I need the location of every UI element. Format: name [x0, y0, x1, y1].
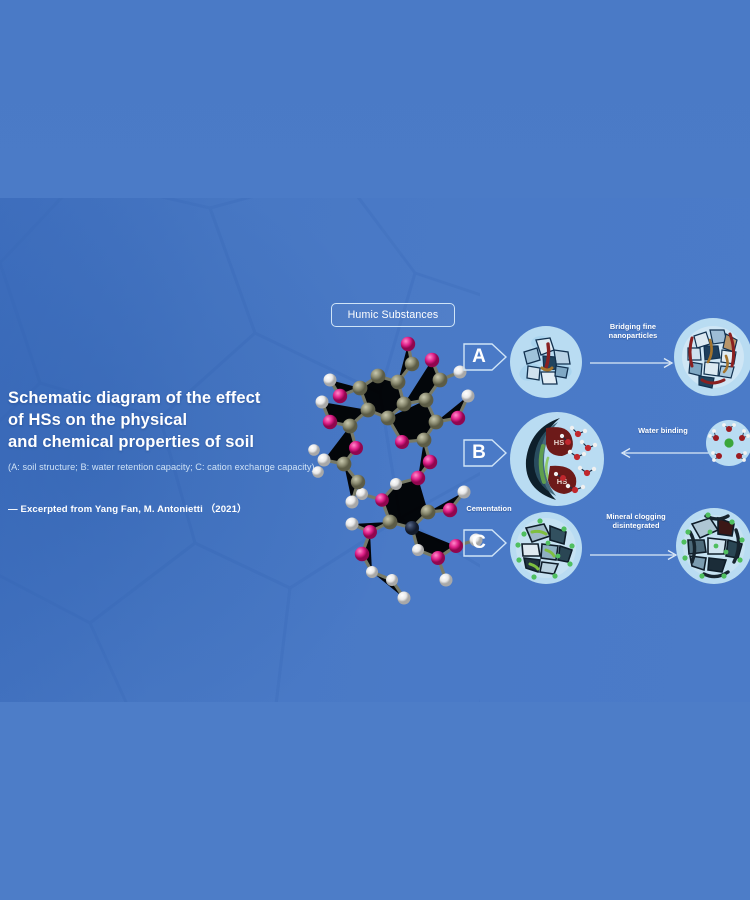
panel-a-process-caption: Bridging fine nanoparticles	[592, 322, 674, 341]
panel-b-right-bubble	[706, 420, 750, 466]
figure-credit: — Excerpted from Yang Fan, M. Antonietti…	[8, 501, 338, 515]
panel-a-label: A	[465, 336, 493, 378]
soil-aggregate-bridged-icon	[674, 318, 750, 396]
panel-a: A	[462, 318, 750, 408]
hydrated-cation-cluster-icon	[706, 420, 750, 466]
soil-aggregate-loose-icon	[510, 326, 582, 398]
panel-c-label: C	[465, 522, 493, 564]
panel-a-left-bubble	[510, 326, 582, 398]
cemented-mineral-aggregate-icon	[510, 512, 582, 584]
figure-canvas: Schematic diagram of the effect of HSs o…	[0, 0, 750, 900]
panel-a-arrow-right-icon	[590, 356, 678, 370]
panel-a-right-bubble	[674, 318, 750, 396]
panel-b-label: B	[465, 432, 493, 474]
figure-text-block: Schematic diagram of the effect of HSs o…	[8, 388, 338, 515]
panel-b-marker: B	[462, 432, 508, 474]
humic-substance-water-binding-icon: HS HS	[510, 412, 604, 506]
panel-c-process-caption: Mineral clogging disintegrated	[590, 512, 682, 531]
disintegrated-mineral-aggregate-icon	[676, 508, 750, 584]
figure-subtitle: (A: soil structure; B: water retention c…	[8, 462, 338, 472]
panel-b-arrow-left-icon	[616, 446, 712, 460]
panel-b-process-caption: Water binding	[630, 426, 696, 435]
panel-c-marker: C	[462, 522, 508, 564]
panel-c: Cementation C	[462, 506, 750, 606]
title-line-1: Schematic diagram of the effect	[8, 388, 338, 410]
panel-c-arrow-right-icon	[590, 548, 682, 562]
title-line-2: of HSs on the physical	[8, 410, 338, 432]
bottom-background-band	[0, 700, 750, 900]
panel-b: B HS HS	[462, 408, 750, 510]
top-background-band	[0, 0, 750, 200]
panel-c-left-bubble	[510, 512, 582, 584]
panel-c-right-bubble	[676, 508, 750, 584]
svg-text:HS: HS	[554, 438, 564, 447]
title-line-3: and chemical properties of soil	[8, 432, 338, 454]
panel-b-left-bubble: HS HS	[510, 412, 604, 506]
panel-a-marker: A	[462, 336, 508, 378]
page-title: Schematic diagram of the effect of HSs o…	[8, 388, 338, 454]
